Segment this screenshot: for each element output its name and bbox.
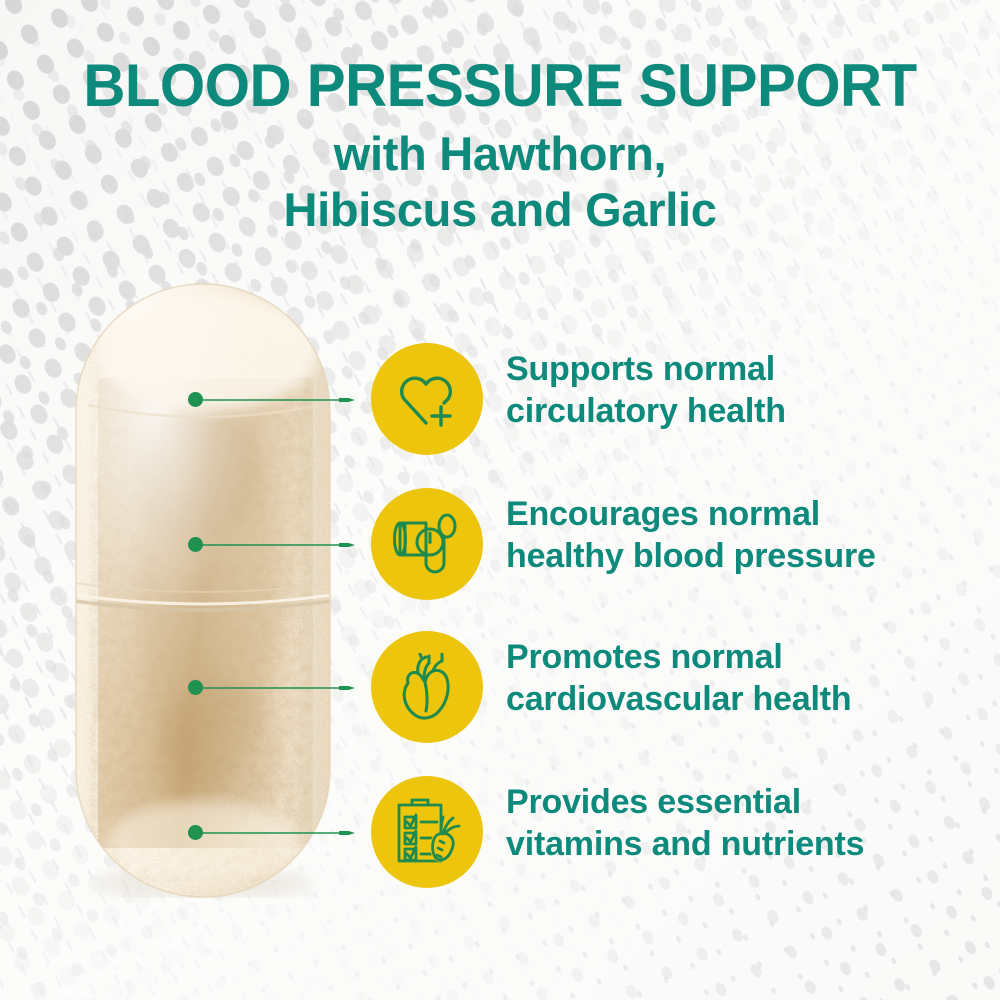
benefit-icon-circle-2 xyxy=(371,488,483,600)
benefit-text-3-line-1: Promotes normal xyxy=(506,638,783,676)
benefit-text-4-line-2: vitamins and nutrients xyxy=(506,823,976,865)
benefit-text-1: Supports normal circulatory health xyxy=(506,348,976,432)
benefits-list: Supports normal circulatory health xyxy=(0,0,1000,1000)
benefit-row-4: Provides essential vitamins and nutrient… xyxy=(0,773,1000,893)
benefit-text-2: Encourages normal healthy blood pressure xyxy=(506,493,976,577)
benefit-icon-circle-1 xyxy=(371,343,483,455)
heart-plus-icon xyxy=(394,367,460,431)
benefit-text-3: Promotes normal cardiovascular health xyxy=(506,636,976,720)
callout-arrow-1 xyxy=(199,398,357,402)
benefit-text-2-line-2: healthy blood pressure xyxy=(506,535,976,577)
benefit-text-1-line-1: Supports normal xyxy=(506,350,775,388)
benefit-text-3-line-2: cardiovascular health xyxy=(506,678,976,720)
infographic-canvas: BLOOD PRESSURE SUPPORT with Hawthorn, Hi… xyxy=(0,0,1000,1000)
benefit-text-4: Provides essential vitamins and nutrient… xyxy=(506,781,976,865)
callout-arrow-4 xyxy=(199,831,357,835)
clipboard-checklist-carrot-icon xyxy=(393,797,461,867)
benefit-text-4-line-1: Provides essential xyxy=(506,783,801,821)
benefit-text-1-line-2: circulatory health xyxy=(506,390,976,432)
benefit-icon-circle-3 xyxy=(371,631,483,743)
callout-arrow-2 xyxy=(199,543,357,547)
benefit-icon-circle-4 xyxy=(371,776,483,888)
benefit-text-2-line-1: Encourages normal xyxy=(506,495,820,533)
benefit-row-3: Promotes normal cardiovascular health xyxy=(0,628,1000,748)
callout-arrow-3 xyxy=(199,686,357,690)
benefit-row-1: Supports normal circulatory health xyxy=(0,340,1000,460)
benefit-row-2: Encourages normal healthy blood pressure xyxy=(0,485,1000,605)
anatomical-heart-icon xyxy=(395,653,459,721)
blood-pressure-monitor-icon xyxy=(392,511,462,577)
